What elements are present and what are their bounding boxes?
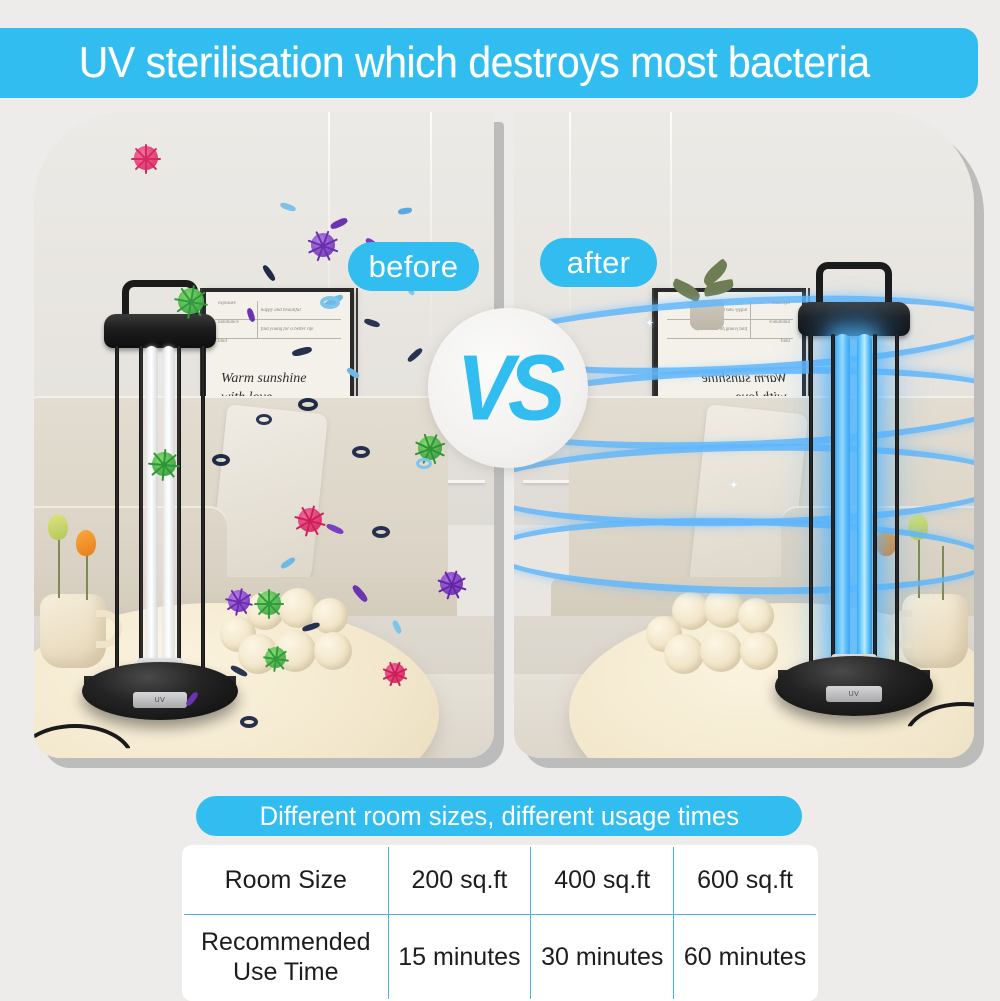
cage-bar xyxy=(895,334,899,674)
cage-bar xyxy=(201,346,205,676)
cage-bar xyxy=(831,334,835,674)
cage-bar xyxy=(873,334,877,674)
bacteria-ring xyxy=(256,414,272,425)
table-row: Recommended Use Time 15 minutes 30 minut… xyxy=(183,914,817,1000)
germ-green xyxy=(142,442,186,486)
bacteria-ring xyxy=(416,458,432,469)
bacteria-ring xyxy=(240,716,258,728)
uv-lamp-before: UV xyxy=(70,280,250,734)
cage-bar xyxy=(139,346,143,676)
uv-tube xyxy=(162,346,175,666)
cage-bar xyxy=(809,334,813,674)
bacteria-ring xyxy=(298,398,318,411)
bacteria-ring xyxy=(352,446,370,458)
room-scene-before: exposure happy and beautiful luminance f… xyxy=(34,112,494,758)
header-banner: UV sterilisation which destroys most bac… xyxy=(0,28,978,98)
flower-stem xyxy=(58,532,60,598)
poster-cell: find young for a better life xyxy=(258,327,341,332)
usage-time-table: Room Size 200 sq.ft 400 sq.ft 600 sq.ft … xyxy=(182,845,818,1001)
vs-badge: VS xyxy=(428,308,588,468)
vs-text: VS xyxy=(457,335,560,442)
before-panel: exposure happy and beautiful luminance f… xyxy=(34,112,494,758)
germ-green xyxy=(258,640,294,676)
sparkle-icon: ✦ xyxy=(646,318,654,329)
uv-tube xyxy=(857,334,872,666)
uv-lamp-after: UV xyxy=(764,262,944,732)
germ-pink xyxy=(378,656,412,690)
table-cell: 600 sq.ft xyxy=(674,846,817,914)
table-row-header-line2: Use Time xyxy=(188,957,384,987)
page-title: UV sterilisation which destroys most bac… xyxy=(79,38,870,88)
table-cell: 60 minutes xyxy=(674,914,817,1000)
table-cell: 15 minutes xyxy=(388,914,531,1000)
table-cell: 30 minutes xyxy=(531,914,674,1000)
label-before: before xyxy=(348,242,479,291)
bacteria-ring xyxy=(320,296,340,309)
lamp-base xyxy=(82,662,238,720)
germ-purple xyxy=(220,582,258,620)
cage-bar xyxy=(115,346,119,676)
label-after-text: after xyxy=(567,245,631,281)
label-after: after xyxy=(540,238,657,287)
uv-tube xyxy=(835,334,850,666)
label-before-text: before xyxy=(369,249,459,285)
uv-tube xyxy=(145,346,158,666)
bacteria-ring xyxy=(212,454,230,466)
germ-purple xyxy=(302,224,344,266)
table-row: Room Size 200 sq.ft 400 sq.ft 600 sq.ft xyxy=(183,846,817,914)
table-cell: 200 sq.ft xyxy=(388,846,531,914)
lamp-handle xyxy=(816,262,892,302)
germ-purple xyxy=(432,564,472,604)
table-row-header-line1: Recommended xyxy=(188,927,384,957)
subtitle-banner: Different room sizes, different usage ti… xyxy=(196,796,802,836)
sparkle-icon: ✦ xyxy=(730,480,738,491)
after-panel: exposure happy and beautiful luminance f… xyxy=(514,112,974,758)
lamp-base-plate: UV xyxy=(133,692,187,708)
bacteria-ring xyxy=(372,526,390,538)
lamp-body xyxy=(805,334,903,674)
lamp-base-plate: UV xyxy=(826,686,882,702)
lamp-body xyxy=(111,346,209,676)
table-row-header: Recommended Use Time xyxy=(183,914,388,1000)
table-cell: 400 sq.ft xyxy=(531,846,674,914)
table-row-header: Room Size xyxy=(183,846,388,914)
germ-pink xyxy=(288,498,332,542)
tulip-flower xyxy=(48,514,68,540)
germ-green xyxy=(168,278,214,324)
cage-bar xyxy=(177,346,181,676)
lamp-top-cap xyxy=(798,302,910,336)
germ-pink xyxy=(126,138,166,178)
subtitle-text: Different room sizes, different usage ti… xyxy=(259,801,738,832)
room-scene-after: exposure happy and beautiful luminance f… xyxy=(514,112,974,758)
